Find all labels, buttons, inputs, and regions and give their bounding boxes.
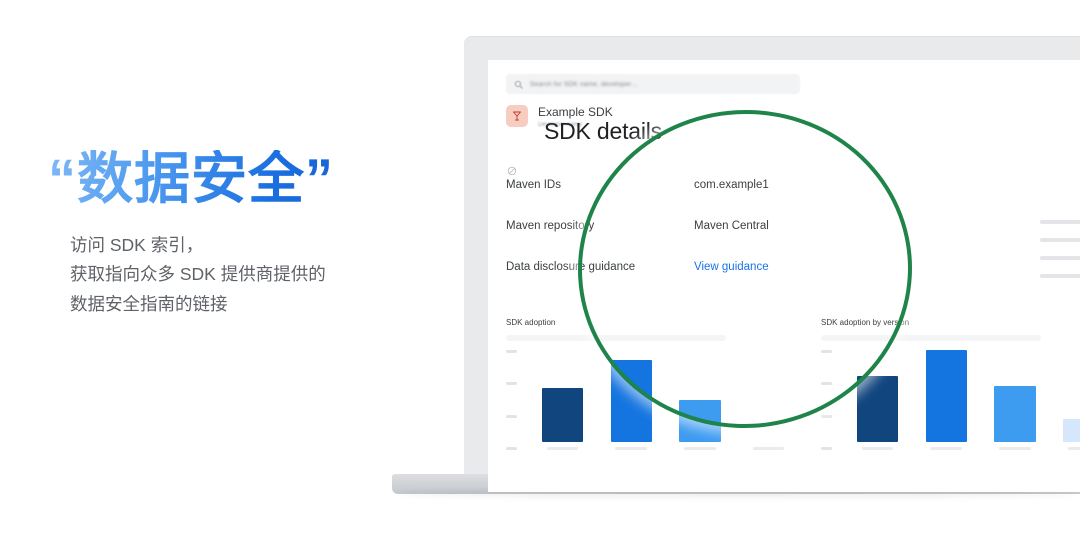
copy-block: “数据安全” 访问 SDK 索引， 获取指向众多 SDK 提供商提供的 数据安全… [48, 150, 408, 319]
y-tick-label [821, 415, 832, 418]
x-tick-label [862, 447, 893, 450]
detail-value: com.example1 [694, 179, 769, 191]
bar [994, 386, 1035, 442]
bar-group [679, 348, 720, 450]
sdk-index-app: Search for SDK name, developer… Example … [488, 60, 1080, 492]
plot-area [843, 348, 1080, 464]
table-row: Maven IDs com.example1 [506, 164, 1080, 205]
subtitle-line-2: 获取指向众多 SDK 提供商提供的 [70, 260, 408, 289]
bar-group [611, 348, 652, 450]
chart-subtitle-skeleton [821, 335, 1041, 341]
chart-title: SDK adoption by version [821, 318, 1080, 327]
x-tick-label [753, 447, 784, 450]
bar-group [748, 348, 789, 450]
x-tick-label [999, 447, 1030, 450]
x-tick-label [547, 447, 578, 450]
y-tick-label [821, 350, 832, 353]
slide-root: “数据安全” 访问 SDK 索引， 获取指向众多 SDK 提供商提供的 数据安全… [0, 0, 1080, 560]
panel-title: SDK details [544, 118, 662, 145]
chart-subtitle-skeleton [506, 335, 726, 341]
detail-key: Maven repository [506, 220, 694, 232]
bar-group [1063, 348, 1080, 450]
laptop-mockup: Search for SDK name, developer… Example … [392, 36, 1080, 506]
search-icon [514, 80, 523, 89]
chart-body [821, 348, 1080, 464]
verified-badge-icon [507, 166, 517, 176]
x-tick-label [684, 447, 715, 450]
bar [542, 388, 583, 442]
detail-key: Maven IDs [506, 179, 694, 191]
table-row: Data disclosure guidance View guidance [506, 246, 1080, 287]
bar [857, 376, 898, 442]
y-tick-label [821, 382, 832, 385]
bar [611, 360, 652, 442]
chart-title: SDK adoption [506, 318, 803, 327]
view-guidance-link[interactable]: View guidance [694, 261, 769, 273]
chart-sdk-adoption: SDK adoption [506, 318, 803, 478]
y-axis [821, 348, 843, 464]
charts-section: SDK adoption [506, 318, 1080, 478]
search-input[interactable]: Search for SDK name, developer… [530, 81, 638, 88]
page-subtitle: 访问 SDK 索引， 获取指向众多 SDK 提供商提供的 数据安全指南的链接 [70, 231, 408, 319]
y-tick-label [506, 447, 517, 450]
y-axis [506, 348, 528, 464]
search-bar[interactable]: Search for SDK name, developer… [506, 74, 800, 94]
subtitle-line-3: 数据安全指南的链接 [70, 290, 408, 319]
y-tick-label [506, 350, 517, 353]
bar-group [994, 348, 1035, 450]
page-title: “数据安全” [48, 150, 408, 209]
bar-group [926, 348, 967, 450]
detail-value: Maven Central [694, 220, 769, 232]
sdk-details-table: Maven IDs com.example1 Maven repository … [506, 164, 1080, 287]
x-tick-label [1068, 447, 1080, 450]
x-tick-label [930, 447, 961, 450]
y-tick-label [506, 415, 517, 418]
bar-group [857, 348, 898, 450]
bar [1063, 419, 1080, 442]
plot-area [528, 348, 803, 464]
table-row: Maven repository Maven Central [506, 205, 1080, 246]
laptop-screen: Search for SDK name, developer… Example … [488, 60, 1080, 492]
x-tick-label [615, 447, 646, 450]
subtitle-line-1: 访问 SDK 索引， [70, 231, 408, 260]
bar-group [542, 348, 583, 450]
bar [679, 400, 720, 442]
chart-sdk-adoption-by-version: SDK adoption by version [821, 318, 1080, 478]
bar [926, 350, 967, 442]
y-tick-label [506, 382, 517, 385]
sdk-app-logo-icon [506, 105, 528, 127]
detail-key: Data disclosure guidance [506, 261, 694, 273]
y-tick-label [821, 447, 832, 450]
chart-body [506, 348, 803, 464]
